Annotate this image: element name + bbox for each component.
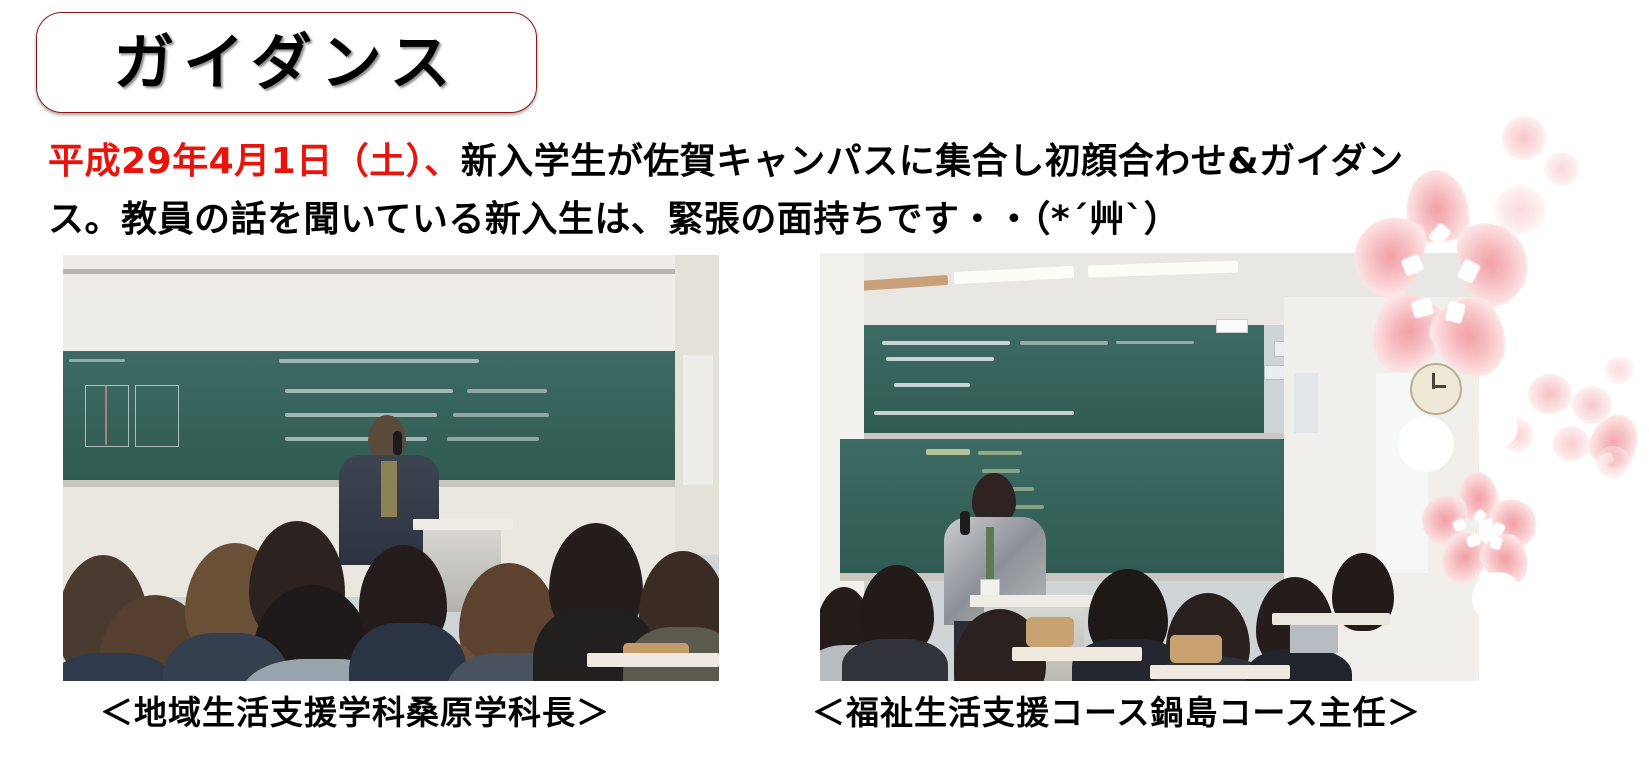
- chalk-heading: [882, 341, 1010, 345]
- notice-card: [1216, 319, 1248, 333]
- wall-panel: [1294, 373, 1318, 433]
- chalkboard-lower: [840, 439, 1284, 577]
- sakura-blur-blob: [1502, 116, 1546, 160]
- chalk-yellow-heading: [926, 449, 970, 455]
- caption-left: ＜地域生活支援学科桑原学科長＞: [100, 686, 610, 734]
- chalk-item-2: [285, 413, 437, 417]
- poster-page: ガイダンス 平成29年4月1日（土）、新入学生が佐賀キャンパスに集合し初顔合わせ…: [0, 0, 1649, 757]
- chalk-item-1: [285, 389, 453, 393]
- title-banner: ガイダンス: [36, 12, 537, 113]
- bokeh-circle: [1472, 572, 1524, 624]
- chalk-heading-cont: [1020, 341, 1108, 345]
- photo-left-scene: [63, 255, 719, 681]
- chalk-item-3: [874, 411, 1074, 415]
- sakura-blur-blob: [1544, 152, 1580, 186]
- microphone: [960, 511, 970, 535]
- podium-top: [970, 595, 1094, 607]
- chalk-yellow-heading-cont: [978, 451, 1022, 455]
- sakura-petal-icon: [1475, 529, 1537, 594]
- chalk-item-2: [894, 383, 970, 387]
- desk: [587, 653, 719, 667]
- wall-molding: [63, 269, 719, 274]
- sakura-blur-blob: [1596, 446, 1630, 478]
- wall-clock: [1410, 363, 1462, 415]
- photo-right-scene: [820, 253, 1479, 681]
- sakura-blur-blob: [1572, 386, 1612, 424]
- desk: [1272, 613, 1390, 625]
- bokeh-circle: [1516, 620, 1544, 648]
- sakura-petal-icon: [1402, 167, 1471, 245]
- chalk-note-3: [447, 437, 539, 441]
- window-right: [683, 355, 713, 485]
- sakura-blur-blob: [1528, 374, 1572, 414]
- event-date: 平成29年4月1日（土）、: [48, 141, 461, 182]
- sakura-blur-blob: [1500, 418, 1534, 452]
- laptop: [1290, 625, 1338, 653]
- chair-back: [1170, 635, 1222, 663]
- sakura-blur-blob: [1604, 356, 1634, 384]
- chalk-table-1: [85, 385, 129, 447]
- sakura-blur-blob: [1494, 186, 1546, 234]
- chalk-table-2: [135, 385, 179, 447]
- sakura-petal-icon: [1583, 407, 1646, 473]
- chalk-note-2: [453, 413, 549, 417]
- chalk-heading-cont: [1116, 341, 1194, 344]
- chalk-item-1: [886, 357, 994, 361]
- chalk-table-divider: [105, 385, 107, 445]
- sakura-petal-icon: [1487, 492, 1544, 553]
- intro-paragraph: 平成29年4月1日（土）、新入学生が佐賀キャンパスに集合し初顔合わせ&ガイダンス…: [48, 133, 1408, 249]
- chalk-heading-line: [279, 359, 479, 363]
- chalk-yellow-line: [982, 469, 1020, 473]
- instructor-tie: [381, 461, 397, 517]
- desk: [1150, 665, 1290, 679]
- caption-right: ＜福祉生活支援コース鍋島コース主任＞: [812, 686, 1421, 734]
- desk: [1012, 647, 1142, 661]
- student-body: [842, 639, 948, 681]
- chalk-underline: [69, 359, 125, 362]
- presenter-lanyard: [986, 527, 994, 581]
- microphone: [393, 431, 402, 455]
- bokeh-circle: [1478, 408, 1518, 448]
- podium-top: [413, 519, 513, 530]
- chair-back: [1026, 617, 1074, 647]
- page-title: ガイダンス: [37, 32, 536, 93]
- sakura-blur-blob: [1552, 426, 1590, 462]
- photo-left: [63, 255, 719, 681]
- photo-right: [820, 253, 1479, 681]
- chalk-note-1: [467, 389, 547, 393]
- clock-hand-minute: [1432, 385, 1446, 388]
